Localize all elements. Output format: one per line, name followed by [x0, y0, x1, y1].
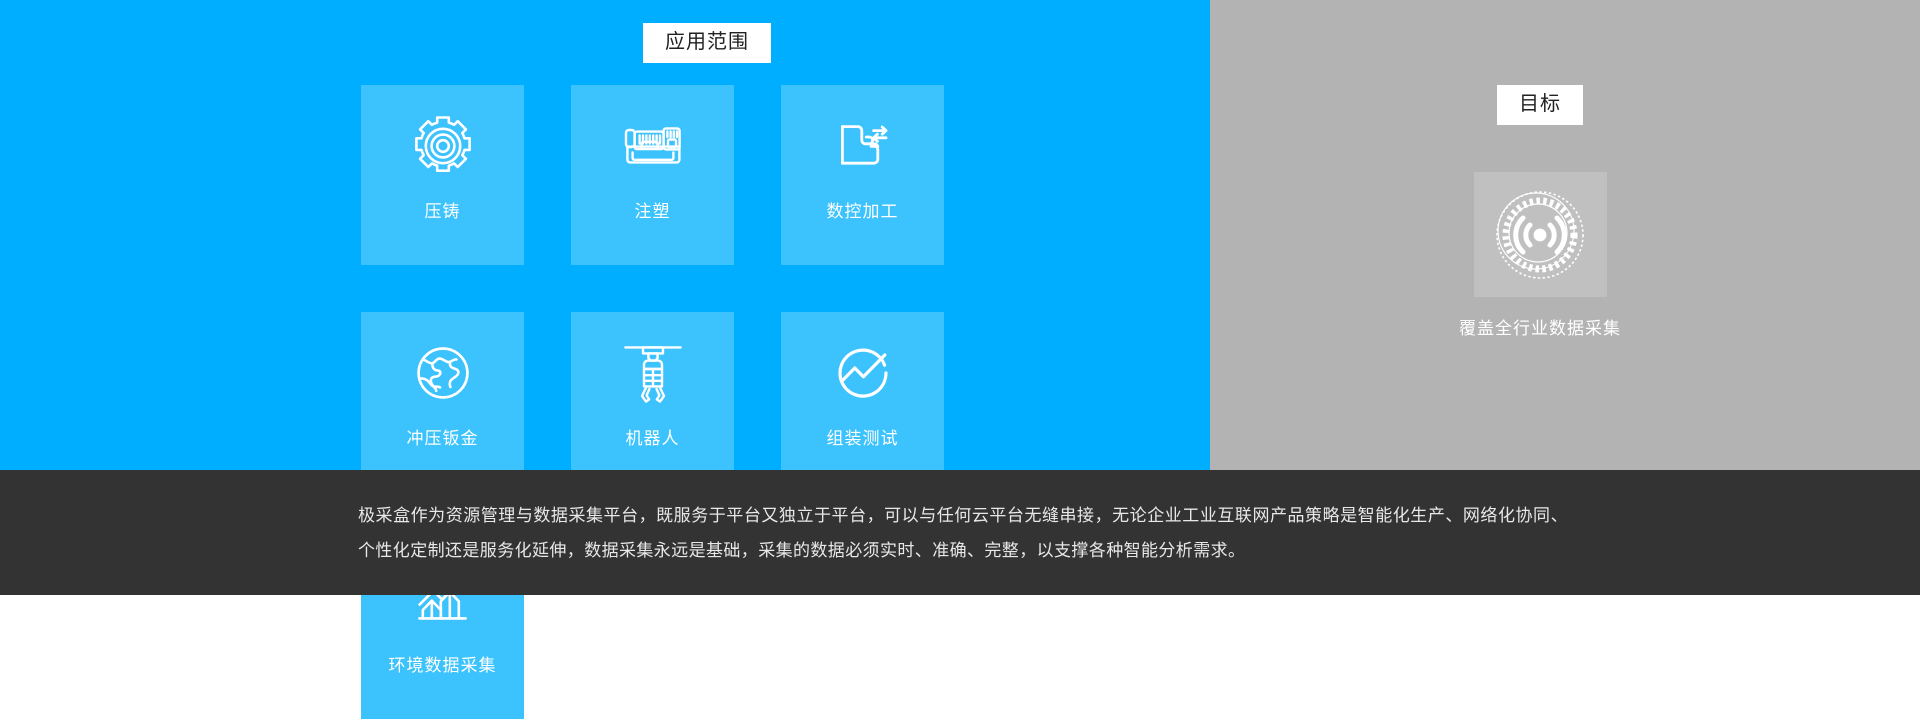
scope-card-grid: 压铸	[361, 85, 981, 719]
scope-card-zuzhuangceshi[interactable]: 组装测试	[781, 312, 944, 492]
signal-radar-icon	[1492, 187, 1588, 283]
scope-card-label: 组装测试	[827, 430, 899, 448]
scope-card-label: 数控加工	[827, 203, 899, 221]
goal-panel: 目标	[1210, 0, 1920, 470]
footer-bar: 极采盒作为资源管理与数据采集平台，既服务于平台又独立于平台，可以与任何云平台无缝…	[0, 470, 1920, 595]
gear-icon	[409, 112, 477, 180]
scope-card-label: 注塑	[635, 203, 671, 221]
goal-caption: 覆盖全行业数据采集	[1459, 319, 1621, 339]
scope-card-yazhu[interactable]: 压铸	[361, 85, 524, 265]
scope-card-label: 冲压钣金	[407, 430, 479, 448]
scope-card-label: 环境数据采集	[389, 657, 497, 675]
scope-card-shukongjiagong[interactable]: 数控加工	[781, 85, 944, 265]
top-area: 应用范围 压铸	[0, 0, 1920, 470]
scope-card-zhusu[interactable]: 注塑	[571, 85, 734, 265]
globe-icon	[409, 339, 477, 407]
robot-gripper-icon	[619, 339, 687, 407]
goal-section-tag: 目标	[1497, 85, 1583, 125]
page-root: 应用范围 压铸	[0, 0, 1920, 595]
cnc-toolpath-icon	[829, 112, 897, 180]
scope-card-label: 机器人	[626, 430, 680, 448]
scope-card-jiqiren[interactable]: 机器人	[571, 312, 734, 492]
footer-description: 极采盒作为资源管理与数据采集平台，既服务于平台又独立于平台，可以与任何云平台无缝…	[358, 498, 1568, 568]
goal-tile[interactable]	[1474, 172, 1607, 297]
injection-molding-machine-icon	[619, 112, 687, 180]
scope-section-tag: 应用范围	[643, 23, 771, 63]
circle-line-chart-icon	[829, 339, 897, 407]
goal-block: 覆盖全行业数据采集	[1459, 172, 1621, 339]
scope-panel: 应用范围 压铸	[0, 0, 1210, 470]
scope-card-label: 压铸	[425, 203, 461, 221]
scope-card-chongyabanjin[interactable]: 冲压钣金	[361, 312, 524, 492]
